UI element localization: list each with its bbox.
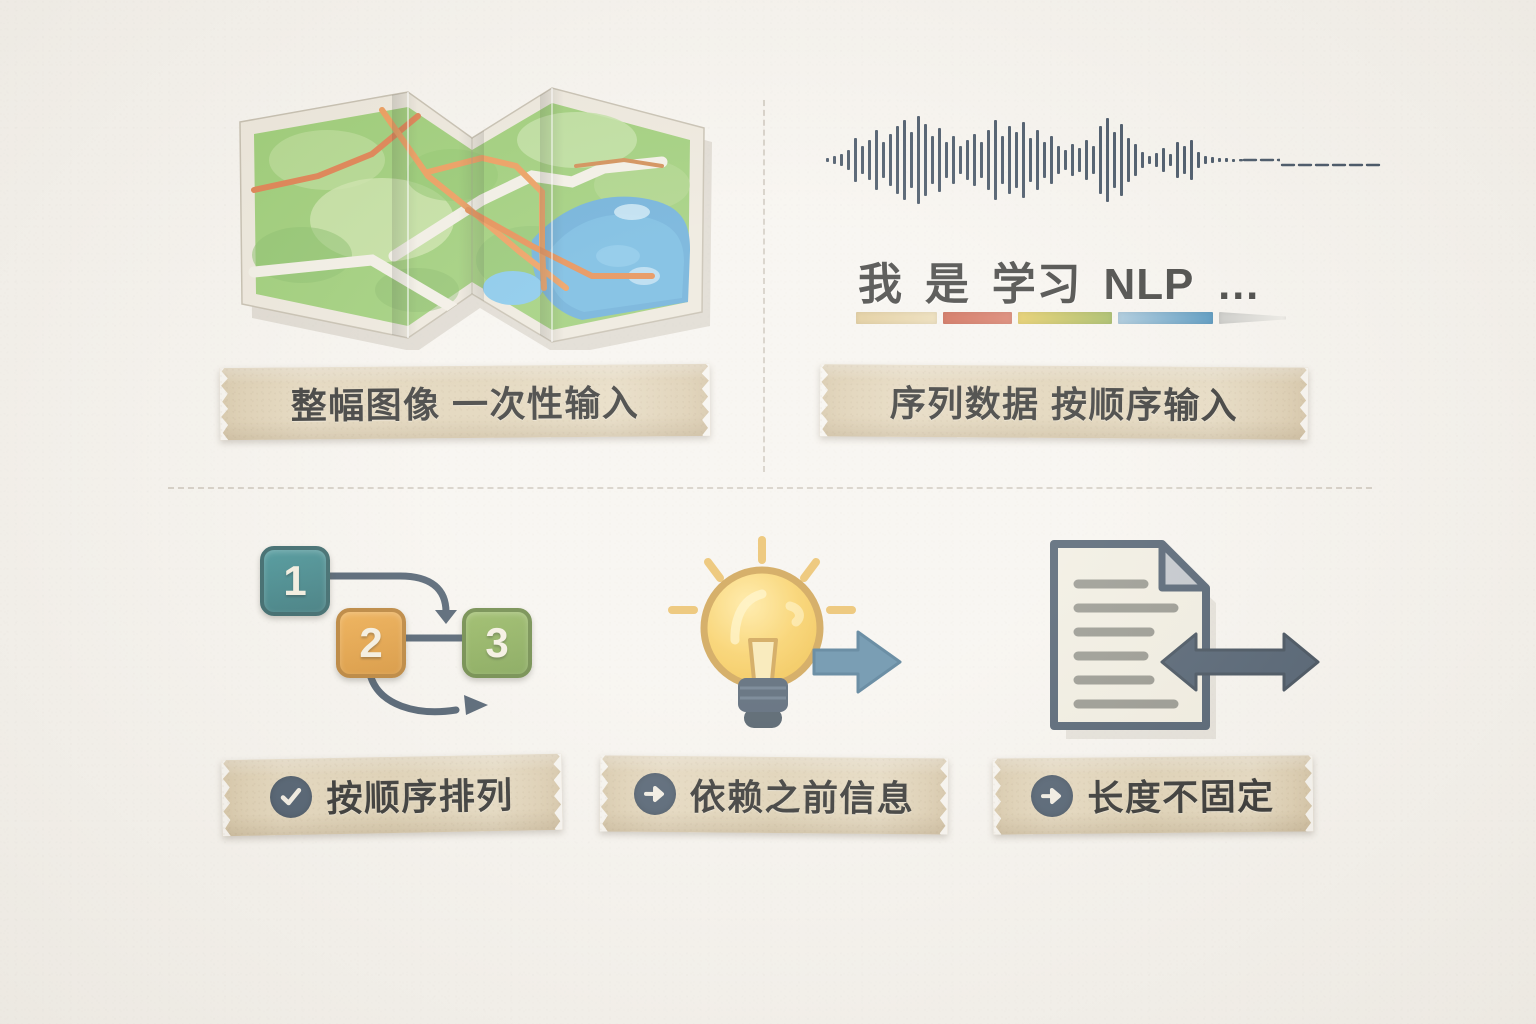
lightbulb-illustration	[662, 528, 912, 740]
label-tape-depends: 依赖之前信息	[600, 755, 949, 834]
sequence-block-1-number: 1	[283, 557, 306, 605]
folded-map-illustration	[232, 80, 712, 350]
horizontal-dashed-divider	[168, 487, 1372, 489]
sequence-block-3: 3	[462, 608, 532, 678]
label-text-whole-image: 整幅图像 一次性输入	[291, 374, 640, 429]
segment-nlp	[1118, 312, 1213, 324]
document-double-arrow	[1162, 634, 1318, 690]
token-4: …	[1216, 260, 1261, 310]
label-tape-whole-image: 整幅图像 一次性输入	[220, 364, 711, 440]
segment-wo	[856, 312, 937, 324]
token-0: 我	[858, 248, 903, 312]
label-tape-sequence-data: 序列数据 按顺序输入	[820, 364, 1308, 439]
segment-shi	[943, 312, 1012, 324]
sequence-block-3-number: 3	[485, 619, 508, 667]
label-tape-variable-length: 长度不固定	[993, 755, 1314, 834]
label-text-sequence-data: 序列数据 按顺序输入	[890, 375, 1239, 429]
token-sequence-text: 我 是 学习 NLP …	[858, 248, 1261, 312]
sequence-block-2-number: 2	[359, 619, 382, 667]
token-3: NLP	[1104, 260, 1195, 310]
bulb-right-arrow	[814, 632, 900, 692]
label-tape-ordered: 按顺序排列	[221, 754, 562, 837]
numbered-sequence-illustration: 1 2 3	[250, 528, 570, 728]
audio-waveform-illustration	[820, 112, 1280, 208]
label-text-variable-length: 长度不固定	[1087, 768, 1275, 822]
token-segment-bar	[856, 312, 1286, 326]
waveform-tail-line	[1280, 160, 1390, 170]
arrow-circle-right-icon	[633, 773, 675, 815]
sequence-block-2: 2	[336, 608, 406, 678]
sequence-block-1: 1	[260, 546, 330, 616]
token-2: 学习	[992, 248, 1082, 312]
segment-ellipsis	[1219, 312, 1286, 324]
label-text-depends: 依赖之前信息	[689, 768, 914, 822]
vertical-dashed-divider	[763, 100, 765, 472]
label-text-ordered: 按顺序排列	[326, 767, 514, 823]
arrowhead-1	[435, 610, 457, 624]
arrowhead-2	[464, 695, 488, 715]
segment-xuexi	[1018, 312, 1113, 324]
check-circle-icon	[270, 776, 313, 819]
token-1: 是	[925, 248, 970, 312]
document-illustration	[1032, 532, 1332, 744]
arrow-circle-right-icon-2	[1031, 775, 1073, 817]
